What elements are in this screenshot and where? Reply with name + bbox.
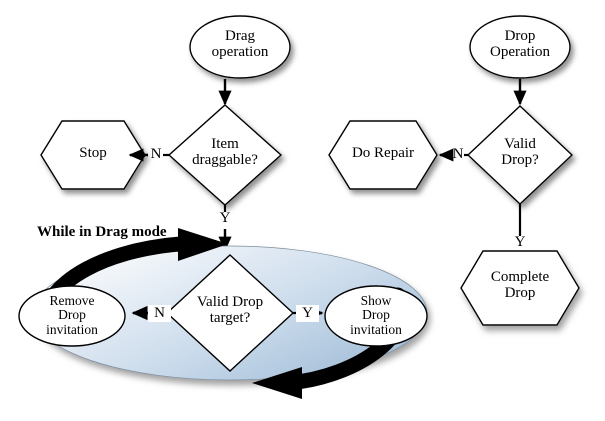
node-drop-operation <box>470 16 570 78</box>
node-item-draggable <box>169 105 281 205</box>
edge-label-y-drag-loop: Y <box>217 211 233 226</box>
flowchart-svg <box>0 0 605 421</box>
edge-label-n-stop: N <box>148 147 164 162</box>
edge-label-y-complete: Y <box>512 235 528 250</box>
node-remove-drop-invitation <box>19 286 125 346</box>
edge-label-n-repair: N <box>450 147 466 162</box>
node-show-drop-invitation <box>325 286 427 346</box>
node-drag-operation <box>190 16 290 78</box>
edge-label-y-show: Y <box>296 305 319 322</box>
node-do-repair <box>329 121 437 189</box>
node-valid-drop <box>468 106 572 204</box>
node-complete-drop <box>461 251 579 325</box>
loop-caption-while-in-drag-mode: While in Drag mode <box>37 224 167 241</box>
flowchart-canvas: Drag operation Item draggable? Stop Drop… <box>0 0 605 421</box>
node-stop <box>41 121 145 189</box>
edge-label-n-remove: N <box>148 305 171 322</box>
